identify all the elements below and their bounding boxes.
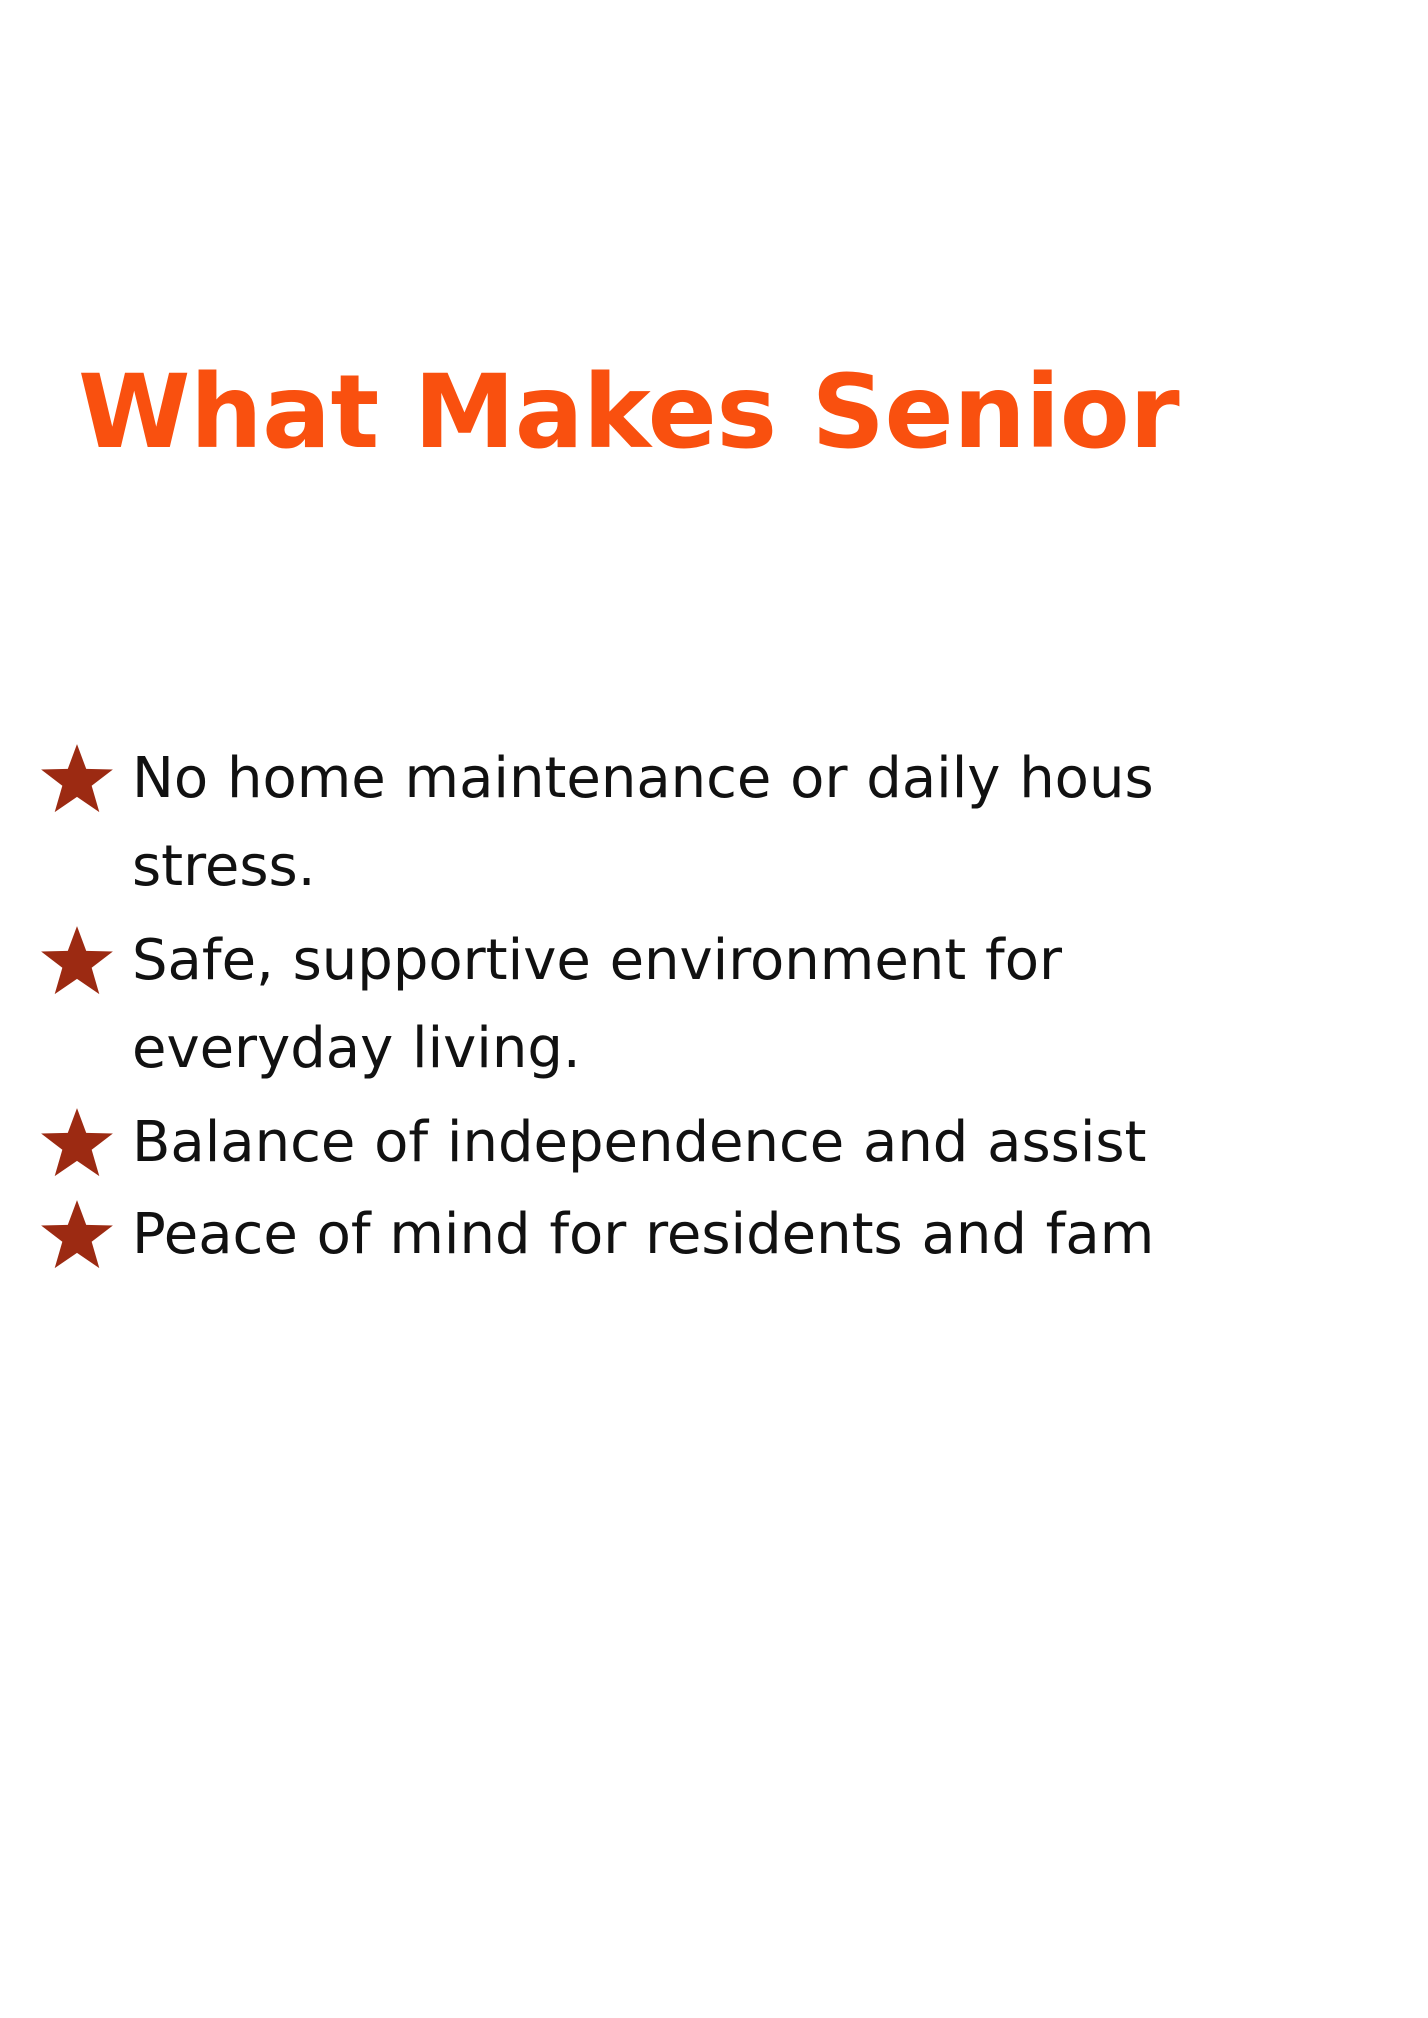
list-item: Balance of independence and assist — [38, 1099, 1428, 1187]
page-title: What Makes Senior — [78, 353, 1428, 473]
list-item: No home maintenance or daily hous stress… — [38, 735, 1428, 913]
list-item-label: Safe, supportive environment for everyda… — [132, 917, 1222, 1094]
list-item: Peace of mind for residents and fam — [38, 1191, 1428, 1279]
benefits-list: No home maintenance or daily hous stress… — [38, 735, 1428, 1284]
list-item-label: Peace of mind for residents and fam — [132, 1191, 1222, 1279]
slide-canvas: What Makes Senior No home maintenance or… — [0, 0, 1428, 2018]
list-item-label: No home maintenance or daily hous stress… — [132, 735, 1222, 912]
star-icon — [38, 1105, 116, 1183]
list-item: Safe, supportive environment for everyda… — [38, 917, 1428, 1095]
list-item-label: Balance of independence and assist — [132, 1099, 1222, 1187]
star-icon — [38, 1197, 116, 1275]
star-icon — [38, 741, 116, 819]
page-title-container: What Makes Senior — [78, 285, 1428, 542]
star-icon — [38, 923, 116, 1001]
